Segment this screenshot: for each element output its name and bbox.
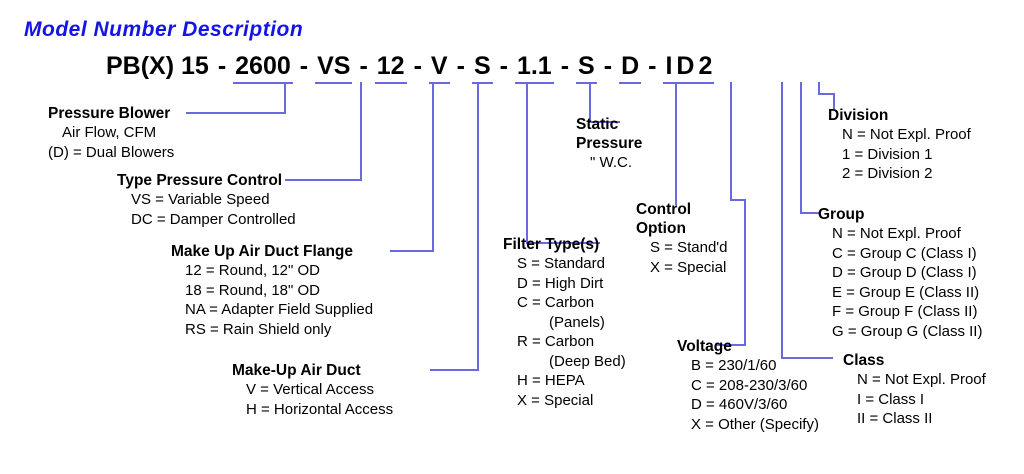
segment-division: 2 xyxy=(696,52,714,84)
make-up-air-duct-flange-line: 18 = Round, 18" OD xyxy=(171,281,373,301)
block-filter-types: Filter Type(s) S = Standard D = High Dir… xyxy=(503,235,626,410)
make-up-air-duct-heading: Make-Up Air Duct xyxy=(232,361,393,380)
static-pressure-heading: Static xyxy=(576,115,642,134)
segment-duct-access: V xyxy=(429,52,450,84)
segment-airflow: 2600 xyxy=(233,52,293,84)
model-number-string: PB(X) 15 - 2600 - VS - 12 - V - S - 1.1 … xyxy=(104,52,714,82)
voltage-line: D = 460V/3/60 xyxy=(677,395,819,415)
block-static-pressure: Static Pressure " W.C. xyxy=(576,115,642,173)
segment-duct-flange: 12 xyxy=(375,52,407,84)
voltage-heading: Voltage xyxy=(677,337,819,356)
segment-voltage: D xyxy=(619,52,641,84)
filter-types-line: D = High Dirt xyxy=(503,274,626,294)
group-heading: Group xyxy=(818,205,982,224)
division-line: N = Not Expl. Proof xyxy=(828,125,971,145)
segment-class: I xyxy=(663,52,674,84)
class-heading: Class xyxy=(843,351,986,370)
model-number-description-diagram: Model Number Description xyxy=(0,0,1024,474)
control-option-line: X = Special xyxy=(636,258,728,278)
control-option-line: S = Stand'd xyxy=(636,238,728,258)
pressure-blower-line: (D) = Dual Blowers xyxy=(48,143,174,163)
block-class: Class N = Not Expl. Proof I = Class I II… xyxy=(843,351,986,429)
pressure-blower-heading: Pressure Blower xyxy=(48,104,174,123)
segment-group: D xyxy=(674,52,696,84)
leader-type-pressure-control xyxy=(285,82,361,180)
segment-dash: - xyxy=(211,52,233,81)
control-option-heading: Option xyxy=(636,219,728,238)
make-up-air-duct-flange-line: RS = Rain Shield only xyxy=(171,320,373,340)
segment-dash: - xyxy=(352,52,374,81)
block-group: Group N = Not Expl. Proof C = Group C (C… xyxy=(818,205,982,341)
group-line: G = Group G (Class II) xyxy=(818,322,982,342)
filter-types-line: X = Special xyxy=(503,391,626,411)
voltage-line: C = 208-230/3/60 xyxy=(677,376,819,396)
make-up-air-duct-line: H = Horizontal Access xyxy=(232,400,393,420)
block-pressure-blower: Pressure Blower Air Flow, CFM (D) = Dual… xyxy=(48,104,174,162)
group-line: C = Group C (Class I) xyxy=(818,244,982,264)
group-line: N = Not Expl. Proof xyxy=(818,224,982,244)
block-division: Division N = Not Expl. Proof 1 = Divisio… xyxy=(828,106,971,184)
block-control-option: Control Option S = Stand'd X = Special xyxy=(636,200,728,277)
voltage-line: B = 230/1/60 xyxy=(677,356,819,376)
make-up-air-duct-flange-line: NA = Adapter Field Supplied xyxy=(171,300,373,320)
group-line: F = Group F (Class II) xyxy=(818,302,982,322)
segment-filter-type: S xyxy=(472,52,493,84)
block-make-up-air-duct: Make-Up Air Duct V = Vertical Access H =… xyxy=(232,361,393,419)
division-line: 1 = Division 1 xyxy=(828,145,971,165)
segment-dash: - xyxy=(450,52,472,81)
division-heading: Division xyxy=(828,106,971,125)
segment-dash: - xyxy=(554,52,576,81)
make-up-air-duct-flange-line: 12 = Round, 12" OD xyxy=(171,261,373,281)
block-make-up-air-duct-flange: Make Up Air Duct Flange 12 = Round, 12" … xyxy=(171,242,373,339)
block-voltage: Voltage B = 230/1/60 C = 208-230/3/60 D … xyxy=(677,337,819,434)
leader-group xyxy=(801,82,819,213)
filter-types-line: (Panels) xyxy=(503,313,626,333)
segment-control-option: S xyxy=(576,52,597,84)
filter-types-line: R = Carbon xyxy=(503,332,626,352)
segment-dash: - xyxy=(597,52,619,81)
segment-dash: - xyxy=(293,52,315,81)
leader-pressure-blower xyxy=(186,82,285,113)
type-pressure-control-heading: Type Pressure Control xyxy=(117,171,296,190)
filter-types-heading: Filter Type(s) xyxy=(503,235,626,254)
segment-static-pressure: 1.1 xyxy=(515,52,554,84)
make-up-air-duct-line: V = Vertical Access xyxy=(232,380,393,400)
filter-types-line: S = Standard xyxy=(503,254,626,274)
segment-base: PB(X) 15 xyxy=(104,52,211,81)
class-line: I = Class I xyxy=(843,390,986,410)
make-up-air-duct-flange-heading: Make Up Air Duct Flange xyxy=(171,242,373,261)
voltage-line: X = Other (Specify) xyxy=(677,415,819,435)
type-pressure-control-line: DC = Damper Controlled xyxy=(117,210,296,230)
segment-dash: - xyxy=(641,52,663,81)
segment-dash: - xyxy=(407,52,429,81)
control-option-heading: Control xyxy=(636,200,728,219)
static-pressure-line: " W.C. xyxy=(576,153,642,173)
group-line: D = Group D (Class I) xyxy=(818,263,982,283)
filter-types-line: (Deep Bed) xyxy=(503,352,626,372)
segment-dash: - xyxy=(493,52,515,81)
leader-division xyxy=(819,82,834,109)
class-line: N = Not Expl. Proof xyxy=(843,370,986,390)
block-type-pressure-control: Type Pressure Control VS = Variable Spee… xyxy=(117,171,296,229)
segment-pressure-control: VS xyxy=(315,52,352,84)
type-pressure-control-line: VS = Variable Speed xyxy=(117,190,296,210)
filter-types-line: C = Carbon xyxy=(503,293,626,313)
filter-types-line: H = HEPA xyxy=(503,371,626,391)
class-line: II = Class II xyxy=(843,409,986,429)
division-line: 2 = Division 2 xyxy=(828,164,971,184)
leader-make-up-air-duct-flange xyxy=(390,82,433,251)
pressure-blower-line: Air Flow, CFM xyxy=(48,123,174,143)
leader-make-up-air-duct xyxy=(430,82,478,370)
static-pressure-heading: Pressure xyxy=(576,134,642,153)
group-line: E = Group E (Class II) xyxy=(818,283,982,303)
page-title: Model Number Description xyxy=(24,18,303,42)
